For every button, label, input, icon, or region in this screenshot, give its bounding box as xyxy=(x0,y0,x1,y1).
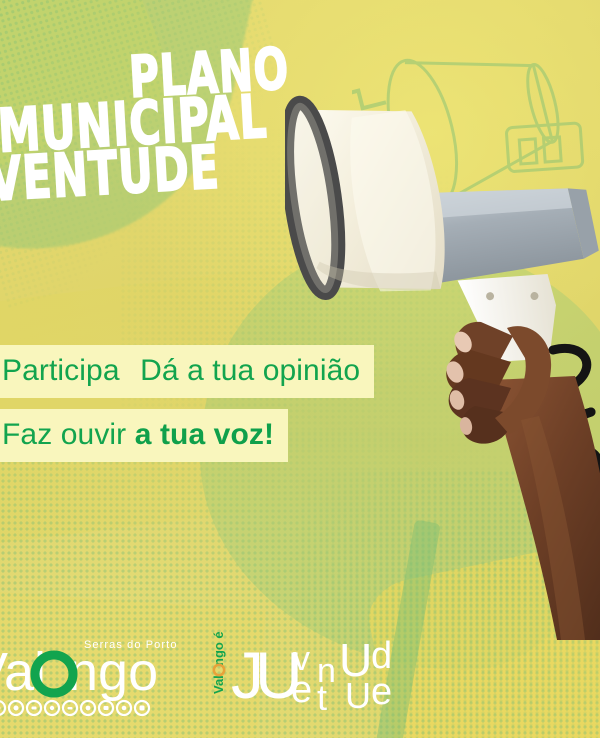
juventude-letter-e: e xyxy=(291,669,312,710)
claim-voz: Faz ouvir a tua voz! xyxy=(0,409,288,462)
juventude-prefix-post: ngo é xyxy=(211,631,226,666)
claim-text-1: Participa xyxy=(2,354,120,387)
claims-list: Participa Dá a tua opinião Faz ouvir a t… xyxy=(0,345,600,473)
claim-text-3-bold: a tua voz! xyxy=(135,418,274,451)
logo-valongo: Serras do Porto Val ngo xyxy=(0,622,216,718)
claim-text-2: Dá a tua opinião xyxy=(140,354,360,387)
valongo-icon-row xyxy=(0,701,149,715)
claim-text-3: Faz ouvir xyxy=(2,418,135,451)
juventude-letter-t: t xyxy=(317,677,327,710)
claim-opiniao: Dá a tua opinião xyxy=(130,345,374,398)
claim-participa: Participa xyxy=(0,345,134,398)
juventude-letter-e2: e xyxy=(371,671,392,710)
juventude-letter-u: U xyxy=(345,675,371,710)
logo-juventude: Val ngo é J U v e n t U U d e xyxy=(205,616,405,710)
juventude-wordmark: J U v e n t U U d e xyxy=(231,634,392,710)
page-title: PLANO MUNICIPAL JUVENTUDE xyxy=(0,46,393,199)
valongo-wordmark-post: ngo xyxy=(68,642,158,702)
juventude-prefix-pre: Val xyxy=(211,675,226,694)
poster-canvas: PLANO MUNICIPAL JUVENTUDE Participa Dá a… xyxy=(0,0,600,738)
